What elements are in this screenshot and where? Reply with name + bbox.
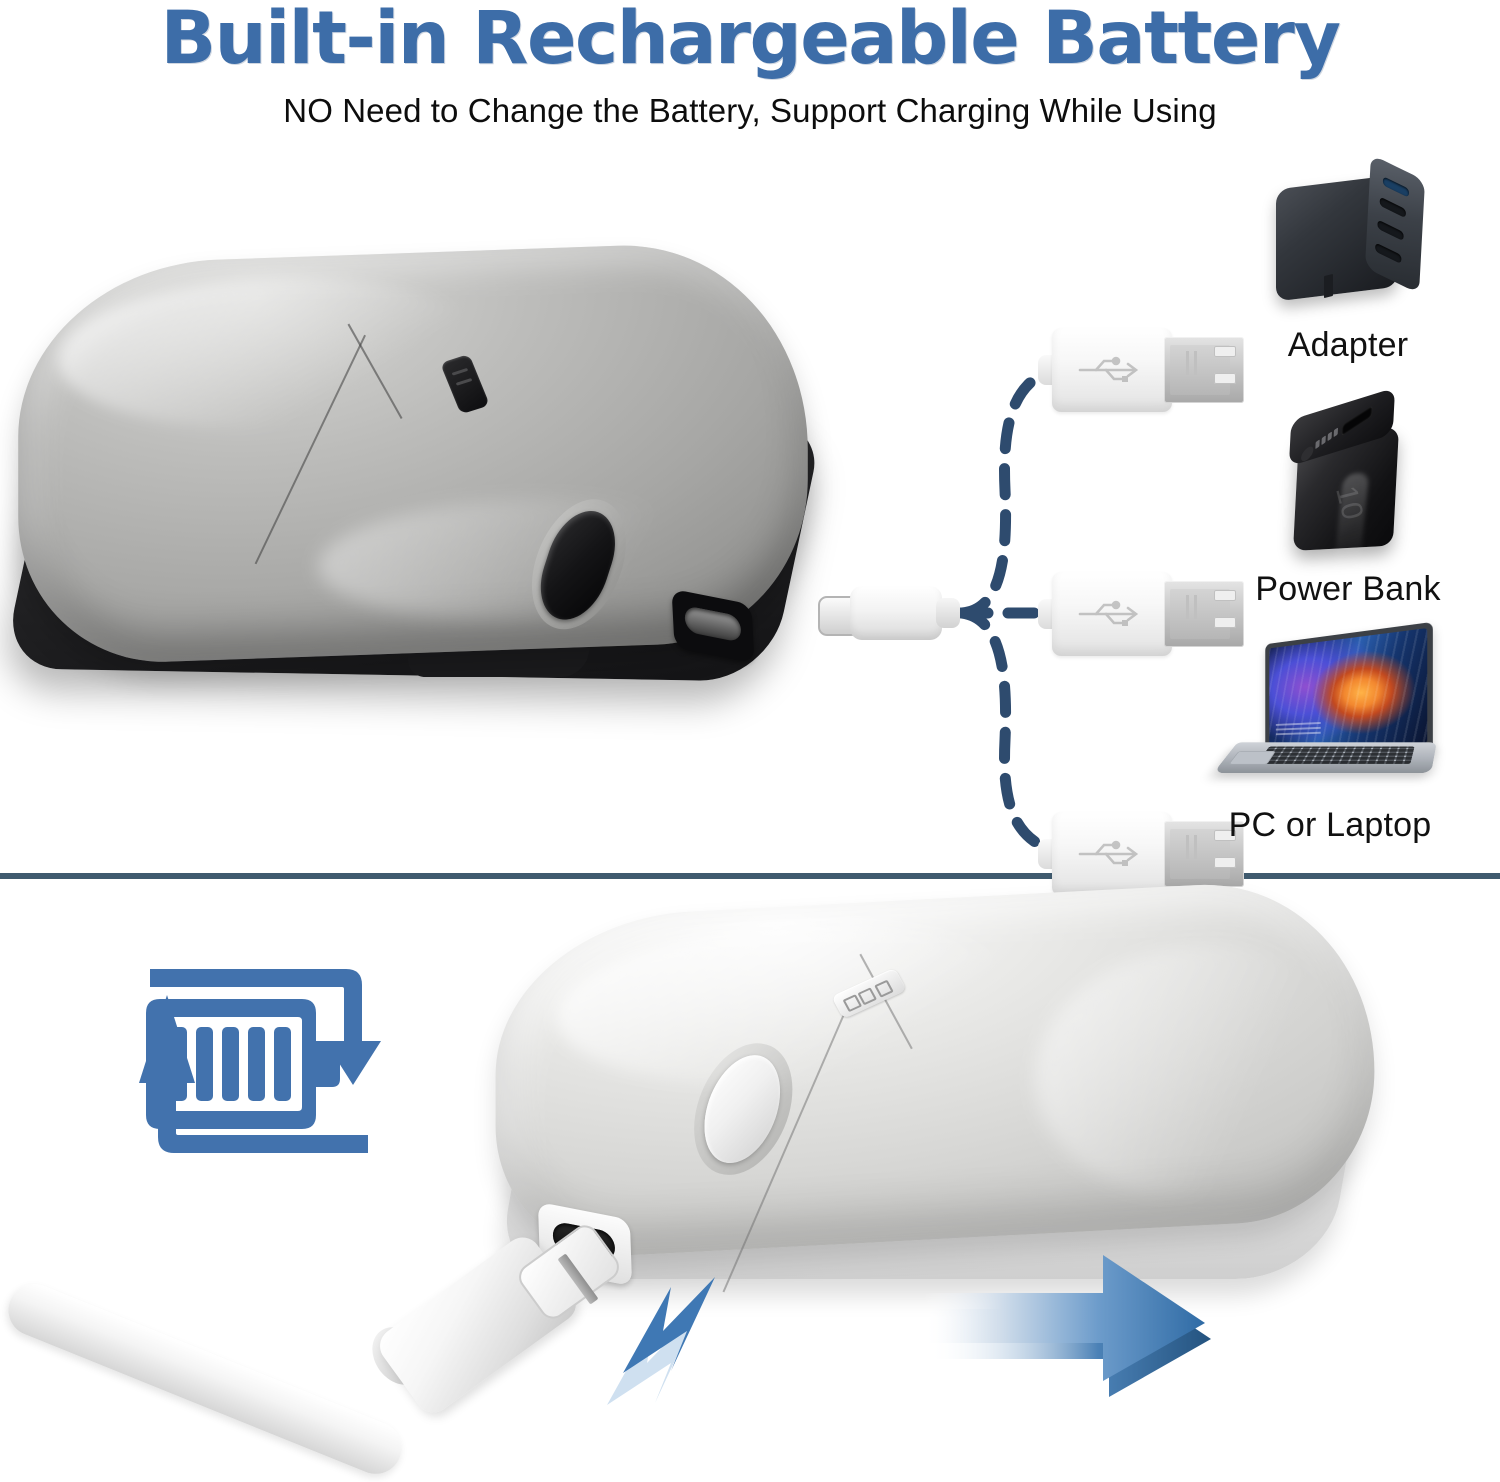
laptop-screen: [1269, 628, 1427, 747]
charging-bolt-icon: [575, 1245, 775, 1435]
power-bank-label: Power Bank: [1208, 570, 1488, 609]
infographic-page: Built-in Rechargeable Battery NO Need to…: [0, 0, 1500, 1464]
adapter-usb-c-port: [1380, 197, 1406, 218]
usb-c-plug-body: [850, 586, 942, 640]
dpi-button-line: [452, 368, 469, 376]
top-panel: Adapter 10 Power Bank: [0, 140, 1500, 873]
page-title: Built-in Rechargeable Battery: [0, 0, 1500, 81]
wall-charger-icon: [1258, 160, 1438, 310]
target-power-bank: 10 Power Bank: [1208, 398, 1488, 609]
mouse-silver-shell: [496, 876, 1375, 1263]
usb-a-contact-bar: [1186, 595, 1189, 619]
target-laptop: PC or Laptop: [1190, 630, 1470, 845]
adapter-usb-c-port: [1375, 243, 1401, 264]
adapter-prong: [1324, 274, 1333, 298]
wire-to-laptop: [962, 613, 1058, 852]
laptop-keyboard: [1257, 747, 1414, 764]
usb-a-contact-bar: [1186, 351, 1189, 375]
usb-a-contact-bar: [1186, 835, 1189, 859]
mouse-gray: [8, 245, 828, 705]
mouse-silver: [455, 889, 1415, 1289]
usb-a-contact-bar: [1194, 351, 1197, 375]
usb-trident-icon: [1072, 834, 1148, 874]
adapter-usb-a-port: [1383, 176, 1409, 197]
usb-c-plug: [818, 578, 958, 648]
adapter-usb-c-port: [1377, 220, 1403, 241]
usb-a-contact-bar: [1194, 595, 1197, 619]
laptop-lid: [1265, 622, 1433, 753]
dpi-button-line: [456, 378, 473, 386]
power-bank-led-indicators: [1315, 427, 1338, 449]
usb-a-contact-pad: [1214, 373, 1236, 384]
usb-c-port-opening: [684, 605, 741, 642]
laptop-label: PC or Laptop: [1190, 806, 1470, 845]
header: Built-in Rechargeable Battery NO Need to…: [0, 0, 1500, 140]
laptop-screen-text: [1276, 720, 1321, 735]
wire-to-adapter: [962, 368, 1058, 613]
direction-arrow-icon: [905, 1235, 1225, 1415]
power-bank-usb-port: [1342, 405, 1373, 436]
usb-c-plug-collar: [936, 598, 960, 628]
usb-trident-icon: [1072, 594, 1148, 634]
usb-a-contact-pad: [1214, 617, 1236, 628]
target-adapter: Adapter: [1208, 160, 1488, 365]
adapter-label: Adapter: [1208, 326, 1488, 365]
usb-trident-icon: [1072, 350, 1148, 390]
page-subtitle: NO Need to Change the Battery, Support C…: [0, 92, 1500, 130]
power-bank-icon: 10: [1258, 398, 1438, 558]
laptop-base: [1213, 742, 1436, 773]
laptop-icon: [1220, 630, 1440, 790]
rechargeable-battery-icon: [78, 937, 438, 1187]
usb-a-contact-pad: [1214, 857, 1236, 868]
